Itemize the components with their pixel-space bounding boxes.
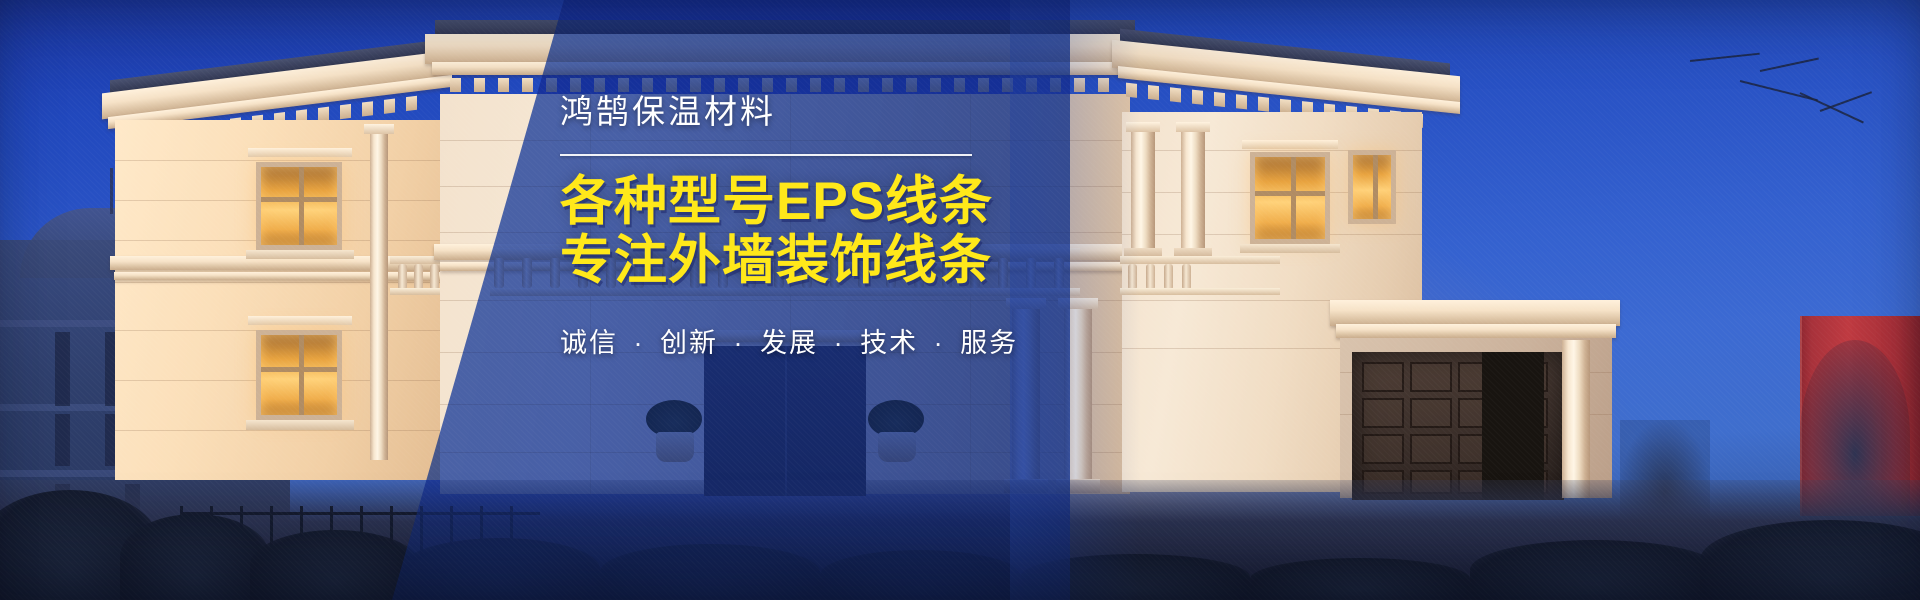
slogan-separator: · [928,328,951,358]
slogan-item-2: 发展 [760,328,818,358]
title-divider [560,154,972,156]
banner-text-block: 鸿鹄保温材料 各种型号EPS线条 专注外墙装饰线条 诚信 · 创新 · 发展 ·… [560,95,1030,360]
slogan-separator: · [728,328,751,358]
slogan-item-3: 技术 [860,328,918,358]
slogan-separator: · [628,328,651,358]
slogan-separator: · [828,328,851,358]
slogan-item-0: 诚信 [560,328,618,358]
banner-hero: 鸿鹄保温材料 各种型号EPS线条 专注外墙装饰线条 诚信 · 创新 · 发展 ·… [0,0,1920,600]
slogan-item-1: 创新 [660,328,718,358]
headline-line-2: 专注外墙装饰线条 [560,231,1030,290]
headline-line-1: 各种型号EPS线条 [560,172,1030,231]
foreground-shrub [250,530,420,600]
slogan-item-4: 服务 [960,328,1018,358]
foreground-shrub [1470,540,1720,600]
brand-name: 鸿鹄保温材料 [560,95,1030,128]
subtitle-slogan: 诚信 · 创新 · 发展 · 技术 · 服务 [560,321,1030,360]
foreground-shrub [120,514,270,600]
foreground-shrub [1250,558,1470,600]
